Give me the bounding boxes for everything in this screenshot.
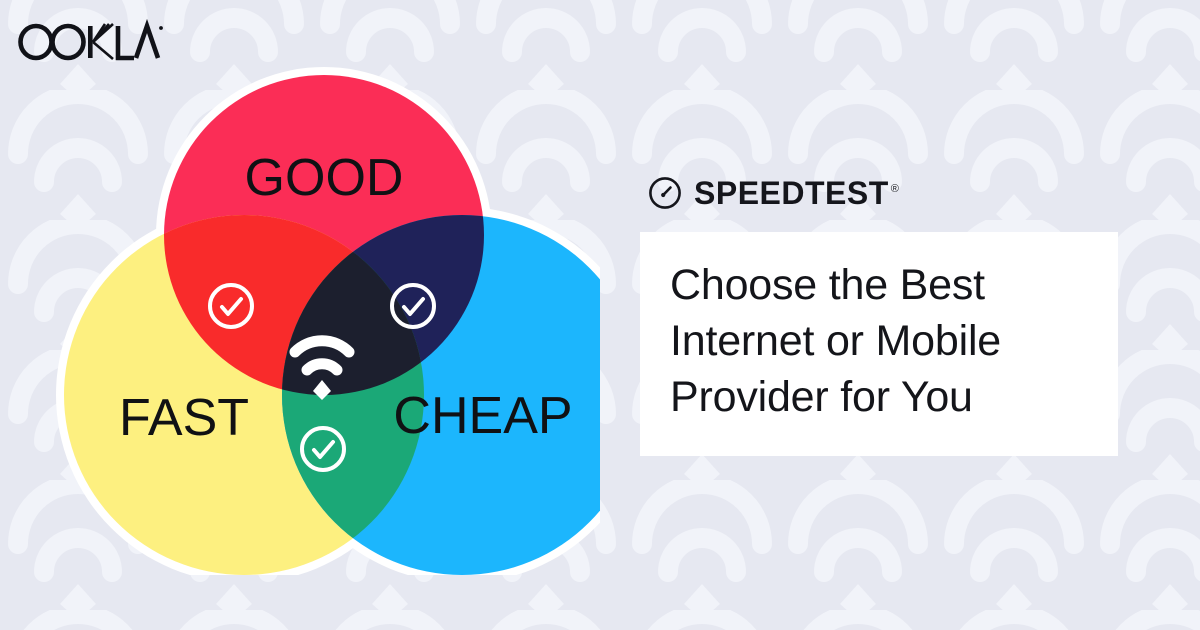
venn-label-cheap: CHEAP [393,387,572,445]
right-content-column: SPEEDTEST® Choose the Best Internet or M… [640,170,1120,456]
speedtest-logo: SPEEDTEST® [648,170,1120,216]
headline-line-3: Provider for You [670,373,973,421]
venn-label-good: GOOD [245,149,404,207]
speedometer-icon [648,176,682,210]
venn-diagram: GOOD FAST CHEAP [40,55,600,575]
speedtest-wordmark-text: SPEEDTEST [694,175,889,211]
ookla-logo [14,18,164,69]
promo-graphic: GOOD FAST CHEAP [0,0,1200,630]
headline-line-1: Choose the Best [670,261,985,309]
speedtest-wordmark: SPEEDTEST® [694,177,899,209]
speedtest-registered-mark: ® [891,183,900,195]
headline-line-2: Internet or Mobile [670,317,1001,365]
page-title: Choose the Best Internet or Mobile Provi… [670,258,1088,426]
headline-card: Choose the Best Internet or Mobile Provi… [640,232,1118,456]
venn-label-fast: FAST [119,389,249,447]
